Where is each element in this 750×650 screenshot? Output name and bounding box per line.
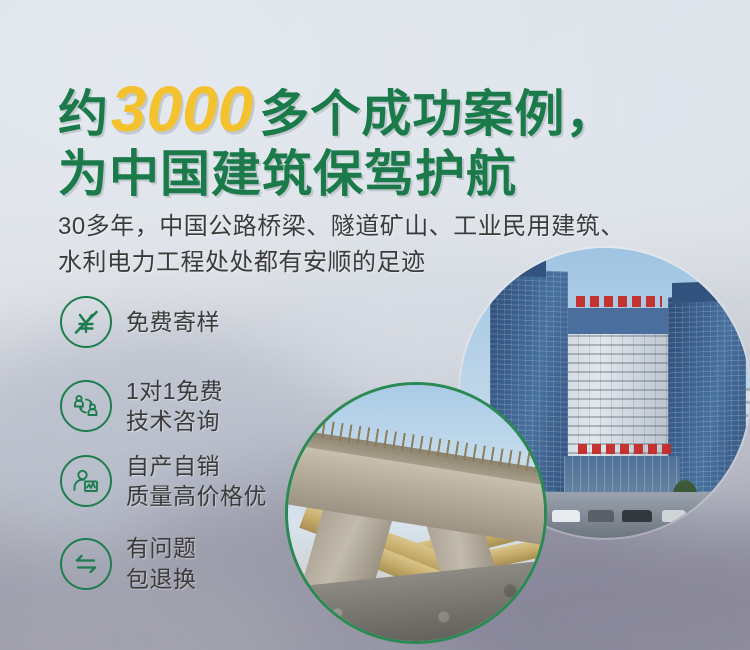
promo-banner: 约3000多个成功案例， 为中国建筑保驾护航 30多年，中国公路桥梁、隧道矿山、… bbox=[0, 0, 750, 650]
parked-car bbox=[662, 510, 686, 522]
feature-label: 自产自销 质量高价格优 bbox=[126, 451, 267, 512]
parked-car bbox=[588, 510, 614, 522]
one-on-one-consult-icon bbox=[60, 380, 112, 432]
feature-item-return-exchange[interactable]: 有问题 包退换 bbox=[60, 533, 350, 594]
feature-label: 免费寄样 bbox=[126, 307, 220, 337]
feature-label-line-2: 技术咨询 bbox=[126, 406, 223, 436]
headline-suffix: 多个成功案例， bbox=[259, 86, 616, 142]
rooftop-red-signage bbox=[576, 296, 662, 307]
mid-block bbox=[560, 308, 680, 334]
parked-car bbox=[622, 510, 652, 522]
subtitle-line-1: 30多年，中国公路桥梁、隧道矿山、工业民用建筑、 bbox=[58, 209, 738, 245]
headline-number: 3000 bbox=[109, 73, 259, 145]
feature-item-free-sample[interactable]: 免费寄样 bbox=[60, 296, 350, 348]
feature-label-line-1: 1对1免费 bbox=[126, 376, 223, 406]
right-tower-cap bbox=[672, 281, 728, 303]
headline-line-2: 为中国建筑保驾护航 bbox=[58, 148, 718, 201]
feature-item-self-production[interactable]: 自产自销 质量高价格优 bbox=[60, 451, 350, 512]
free-sample-icon bbox=[60, 296, 112, 348]
self-produce-sell-icon bbox=[60, 455, 112, 507]
headline: 约3000多个成功案例， 为中国建筑保驾护航 bbox=[58, 76, 718, 201]
feature-label: 有问题 包退换 bbox=[126, 533, 197, 594]
feature-list: 免费寄样 1对1免费 技术咨询 bbox=[60, 296, 350, 594]
feature-label-line-2: 包退换 bbox=[126, 564, 197, 594]
feature-item-consultation[interactable]: 1对1免费 技术咨询 bbox=[60, 376, 350, 437]
parked-car bbox=[552, 510, 580, 522]
subtitle: 30多年，中国公路桥梁、隧道矿山、工业民用建筑、 水利电力工程处处都有安顺的足迹 bbox=[58, 209, 738, 280]
headline-prefix: 约 bbox=[58, 86, 109, 142]
facade-red-signage bbox=[578, 444, 676, 454]
subtitle-line-2: 水利电力工程处处都有安顺的足迹 bbox=[58, 245, 738, 281]
feature-label-line-1: 有问题 bbox=[126, 533, 197, 563]
feature-label-line-1: 免费寄样 bbox=[126, 307, 220, 337]
feature-label: 1对1免费 技术咨询 bbox=[126, 376, 223, 437]
exchange-return-icon bbox=[60, 538, 112, 590]
feature-label-line-2: 质量高价格优 bbox=[126, 481, 267, 511]
feature-label-line-1: 自产自销 bbox=[126, 451, 267, 481]
headline-line-1: 约3000多个成功案例， bbox=[58, 76, 718, 144]
